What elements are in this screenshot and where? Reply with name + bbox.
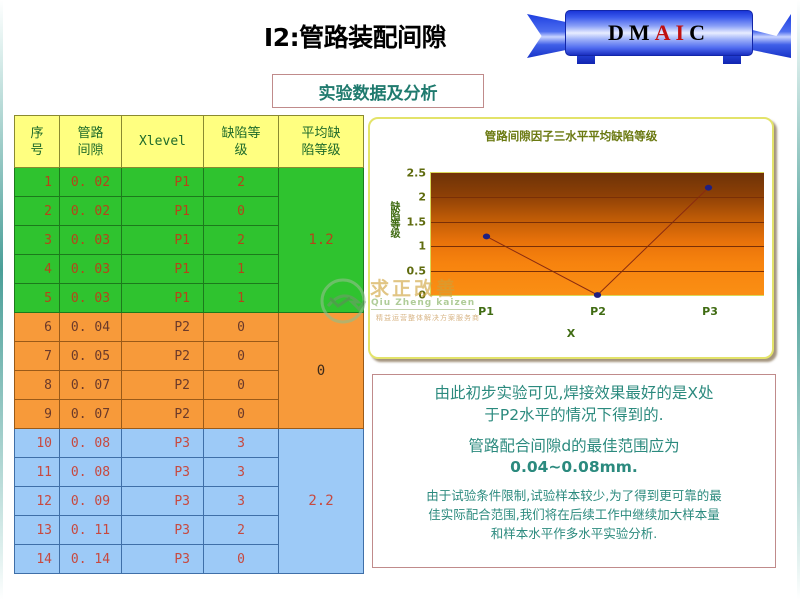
chart-data-point — [483, 234, 490, 240]
cell-gap: 0. 07 — [60, 400, 122, 429]
dmaic-letter-m: M — [629, 20, 655, 45]
chart-data-point — [594, 292, 601, 298]
experiment-data-table: 序号 管路间隙 Xlevel 缺陷等级 平均缺陷等级 10. 02P121.22… — [14, 115, 364, 574]
chart-y-axis-title: 缺陷等级 — [388, 201, 398, 237]
dmaic-letter-c: C — [689, 20, 710, 45]
cell-index: 4 — [15, 255, 60, 284]
cell-average-defect-grade: 2.2 — [279, 429, 364, 574]
cell-index: 8 — [15, 371, 60, 400]
chart-gridline — [431, 271, 764, 272]
chart-y-tick-label: 0 — [418, 289, 426, 302]
cell-xlevel: P2 — [122, 371, 204, 400]
conclusion-line-7: 和样本水平作多水平实验分析. — [383, 524, 765, 543]
cell-index: 10 — [15, 429, 60, 458]
cell-index: 1 — [15, 168, 60, 197]
chart-gridline — [431, 197, 764, 198]
cell-gap: 0. 02 — [60, 197, 122, 226]
cell-defect-grade: 0 — [204, 371, 279, 400]
table-header: 序号 管路间隙 Xlevel 缺陷等级 平均缺陷等级 — [15, 116, 364, 168]
cell-xlevel: P3 — [122, 458, 204, 487]
cell-index: 12 — [15, 487, 60, 516]
subtitle-label: 实验数据及分析 — [319, 79, 438, 104]
table-row: 60. 04P200 — [15, 313, 364, 342]
cell-defect-grade: 3 — [204, 429, 279, 458]
cell-gap: 0. 03 — [60, 226, 122, 255]
ribbon-body: DMAIC — [565, 10, 753, 56]
chart-plot-area: 00.511.522.5 — [430, 172, 764, 296]
cell-xlevel: P3 — [122, 516, 204, 545]
chart-series-line — [431, 173, 764, 295]
dmaic-ribbon: DMAIC — [525, 6, 793, 68]
dmaic-letters: DMAIC — [608, 20, 710, 46]
cell-xlevel: P2 — [122, 342, 204, 371]
cell-defect-grade: 2 — [204, 226, 279, 255]
cell-defect-grade: 1 — [204, 255, 279, 284]
th-xlevel: Xlevel — [122, 116, 204, 168]
cell-xlevel: P1 — [122, 168, 204, 197]
table-row: 100. 08P332.2 — [15, 429, 364, 458]
chart-gridline — [431, 173, 764, 174]
cell-xlevel: P3 — [122, 487, 204, 516]
cell-gap: 0. 07 — [60, 371, 122, 400]
chart-x-tick-label: P3 — [702, 305, 718, 318]
cell-gap: 0. 04 — [60, 313, 122, 342]
cell-gap: 0. 14 — [60, 545, 122, 574]
cell-defect-grade: 0 — [204, 342, 279, 371]
dmaic-letter-i: I — [676, 20, 690, 45]
cell-xlevel: P1 — [122, 284, 204, 313]
chart-title: 管路间隙因子三水平平均缺陷等级 — [370, 128, 772, 144]
cell-index: 6 — [15, 313, 60, 342]
chart-x-axis-title: X — [370, 327, 772, 340]
cell-defect-grade: 3 — [204, 487, 279, 516]
chart-line-path — [487, 188, 709, 295]
cell-gap: 0. 02 — [60, 168, 122, 197]
cell-xlevel: P1 — [122, 226, 204, 255]
cell-index: 9 — [15, 400, 60, 429]
cell-index: 11 — [15, 458, 60, 487]
chart-y-tick-label: 2.5 — [407, 167, 427, 180]
cell-gap: 0. 05 — [60, 342, 122, 371]
chart-gridline — [431, 246, 764, 247]
cell-gap: 0. 11 — [60, 516, 122, 545]
cell-index: 5 — [15, 284, 60, 313]
table-body: 10. 02P121.220. 02P1030. 03P1240. 03P115… — [15, 168, 364, 574]
th-defect-grade: 缺陷等级 — [204, 116, 279, 168]
cell-defect-grade: 0 — [204, 197, 279, 226]
cell-xlevel: P3 — [122, 545, 204, 574]
cell-defect-grade: 1 — [204, 284, 279, 313]
conclusion-line-5: 由于试验条件限制,试验样本较少,为了得到更可靠的最 — [383, 486, 765, 505]
chart-card: 管路间隙因子三水平平均缺陷等级 缺陷等级 00.511.522.5 P1P2P3… — [368, 117, 774, 359]
chart-x-tick-label: P2 — [590, 305, 606, 318]
cell-xlevel: P2 — [122, 313, 204, 342]
cell-defect-grade: 3 — [204, 458, 279, 487]
cell-index: 14 — [15, 545, 60, 574]
cell-average-defect-grade: 1.2 — [279, 168, 364, 313]
conclusion-line-3: 管路配合间隙d的最佳范围应为 — [383, 435, 765, 457]
chart-gridline — [431, 222, 764, 223]
chart-data-point — [705, 185, 712, 191]
conclusion-optimal-range: 0.04~0.08mm. — [383, 457, 765, 478]
cell-defect-grade: 0 — [204, 313, 279, 342]
cell-index: 2 — [15, 197, 60, 226]
th-gap: 管路间隙 — [60, 116, 122, 168]
chart-y-tick-label: 0.5 — [407, 264, 427, 277]
cell-defect-grade: 2 — [204, 516, 279, 545]
th-index: 序号 — [15, 116, 60, 168]
cell-xlevel: P3 — [122, 429, 204, 458]
table-header-row: 序号 管路间隙 Xlevel 缺陷等级 平均缺陷等级 — [15, 116, 364, 168]
cell-index: 13 — [15, 516, 60, 545]
cell-index: 7 — [15, 342, 60, 371]
dmaic-letter-d: D — [608, 20, 629, 45]
cell-defect-grade: 0 — [204, 400, 279, 429]
conclusion-line-1: 由此初步实验可见,焊接效果最好的是X处 — [383, 382, 765, 404]
dmaic-letter-a: A — [655, 20, 676, 45]
chart-y-tick-label: 1 — [418, 240, 426, 253]
slide-canvas: I2:管路装配间隙 DMAIC 实验数据及分析 序号 管路间隙 Xlevel 缺… — [0, 0, 800, 600]
cell-gap: 0. 03 — [60, 284, 122, 313]
chart-x-tick-label: P1 — [478, 305, 494, 318]
conclusion-line-2: 于P2水平的情况下得到的. — [383, 404, 765, 426]
cell-gap: 0. 09 — [60, 487, 122, 516]
subtitle-box: 实验数据及分析 — [272, 74, 484, 108]
cell-xlevel: P1 — [122, 255, 204, 284]
chart-y-tick-label: 2 — [418, 191, 426, 204]
cell-gap: 0. 08 — [60, 429, 122, 458]
chart-y-tick-label: 1.5 — [407, 215, 427, 228]
cell-index: 3 — [15, 226, 60, 255]
page-title: I2:管路装配间隙 — [190, 18, 520, 54]
cell-gap: 0. 08 — [60, 458, 122, 487]
cell-gap: 0. 03 — [60, 255, 122, 284]
table-row: 10. 02P121.2 — [15, 168, 364, 197]
slide-left-edge-decoration — [0, 0, 3, 600]
cell-defect-grade: 2 — [204, 168, 279, 197]
cell-average-defect-grade: 0 — [279, 313, 364, 429]
cell-defect-grade: 0 — [204, 545, 279, 574]
conclusion-box: 由此初步实验可见,焊接效果最好的是X处 于P2水平的情况下得到的. 管路配合间隙… — [372, 374, 776, 568]
conclusion-line-6: 佳实际配合范围,我们将在后续工作中继续加大样本量 — [383, 505, 765, 524]
cell-xlevel: P2 — [122, 400, 204, 429]
cell-xlevel: P1 — [122, 197, 204, 226]
th-average-defect-grade: 平均缺陷等级 — [279, 116, 364, 168]
